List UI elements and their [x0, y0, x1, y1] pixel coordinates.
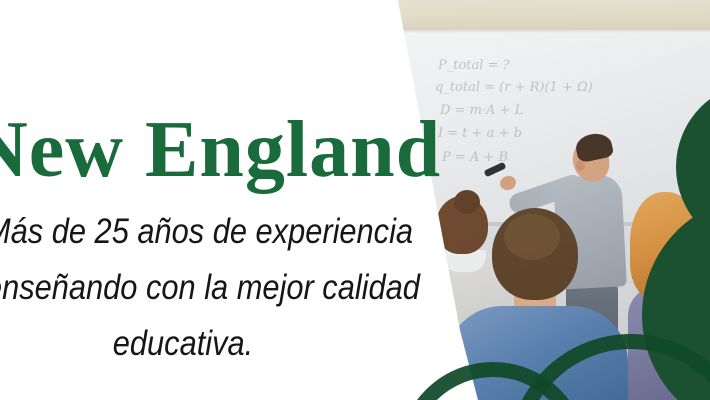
promotional-banner: P_total = ? q_total = (r + R)(1 + Ω) D =… [0, 0, 710, 400]
ceiling-band [380, 0, 710, 30]
student-back-hair-bun [454, 190, 480, 214]
student-front-hair [504, 214, 560, 260]
whiteboard-equation-1: P_total = ? [438, 58, 510, 73]
subtitle-line-3: educativa. [0, 326, 381, 361]
whiteboard-equation-2: q_total = (r + R)(1 + Ω) [435, 80, 593, 95]
subtitle-line-2: enseñando con la mejor calidad [0, 270, 381, 305]
page-title: New England [0, 110, 420, 190]
subtitle-line-1: Más de 25 años de experiencia [0, 214, 381, 249]
headline-text-block: New England Más de 25 años de experienci… [0, 0, 420, 400]
whiteboard-equation-4: I = t + a + b [438, 126, 522, 141]
whiteboard-equation-3: D = m·A + L [440, 103, 523, 118]
teacher-ear [576, 160, 585, 171]
